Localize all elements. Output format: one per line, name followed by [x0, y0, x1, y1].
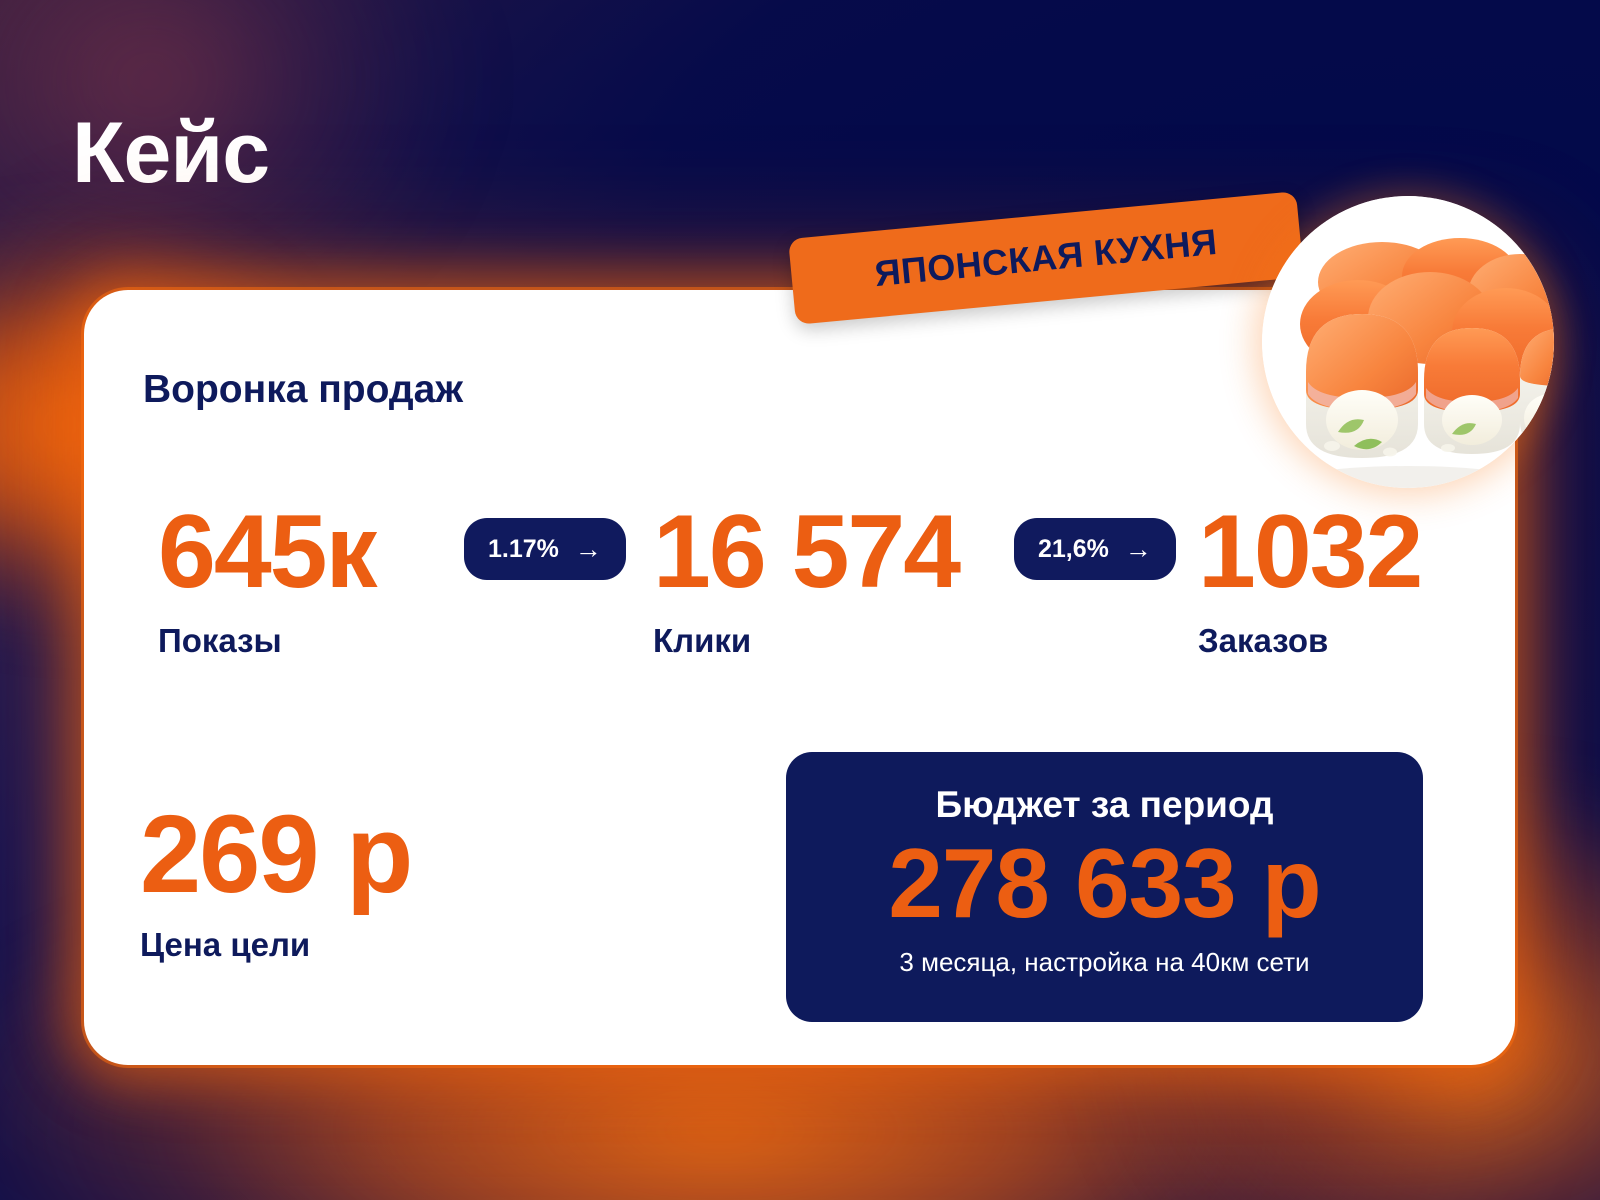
budget-card-note: 3 месяца, настройка на 40км сети: [899, 947, 1309, 978]
sushi-rolls-photo: [1262, 196, 1554, 488]
category-ribbon-label: ЯПОНСКАЯ КУХНЯ: [873, 221, 1219, 295]
slide-canvas: Кейс ЯПОНСКАЯ КУХНЯ: [0, 0, 1600, 1200]
metric-cost-per-goal: 269 р Цена цели: [140, 800, 411, 964]
funnel-section-title: Воронка продаж: [143, 368, 463, 412]
budget-card: Бюджет за период 278 633 р 3 месяца, нас…: [786, 752, 1423, 1022]
metric-clicks-label: Клики: [653, 622, 959, 660]
metric-orders: 1032 Заказов: [1198, 500, 1421, 660]
conversion-badge-ctr[interactable]: 1.17% →: [464, 518, 626, 580]
metric-clicks-value: 16 574: [653, 500, 959, 604]
metric-cost-per-goal-label: Цена цели: [140, 926, 411, 964]
conversion-badge-cr[interactable]: 21,6% →: [1014, 518, 1176, 580]
metric-cost-per-goal-value: 269 р: [140, 800, 411, 910]
conversion-badge-cr-value: 21,6%: [1038, 535, 1109, 564]
conversion-badge-ctr-value: 1.17%: [488, 535, 559, 564]
arrow-right-icon: →: [1125, 536, 1152, 563]
budget-card-amount: 278 633 р: [888, 831, 1320, 937]
arrow-right-icon: →: [575, 536, 602, 563]
metric-clicks: 16 574 Клики: [653, 500, 959, 660]
page-title: Кейс: [72, 110, 269, 196]
metric-impressions: 645к Показы: [158, 500, 376, 660]
metric-impressions-value: 645к: [158, 500, 376, 604]
metric-impressions-label: Показы: [158, 622, 376, 660]
metric-orders-value: 1032: [1198, 500, 1421, 604]
metric-orders-label: Заказов: [1198, 622, 1421, 660]
budget-card-title: Бюджет за период: [935, 786, 1273, 823]
